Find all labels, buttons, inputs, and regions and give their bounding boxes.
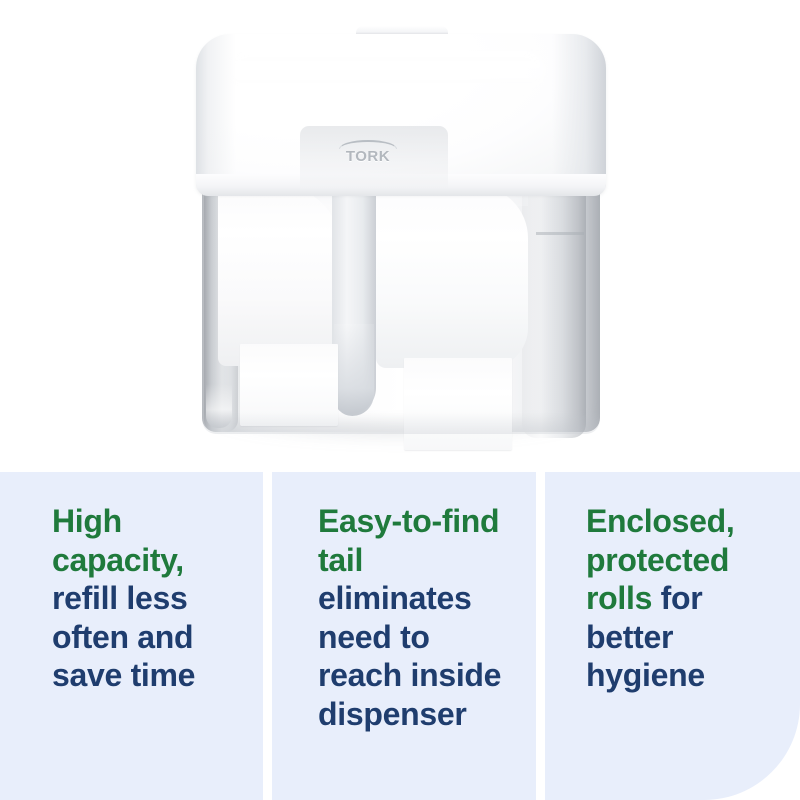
dispenser-illustration: TORK — [196, 26, 606, 438]
feature-panel-easy-to-find-tail: Easy-to-find tail eliminates need to rea… — [272, 472, 536, 800]
feature-panels: High capacity, refill less often and sav… — [0, 470, 800, 800]
feature-text-high-capacity: High capacity, refill less often and sav… — [0, 502, 263, 695]
tork-wordmark: TORK — [332, 149, 404, 165]
product-hero-image: TORK — [0, 0, 800, 470]
feature-panel-high-capacity: High capacity, refill less often and sav… — [0, 472, 263, 800]
dispenser-cover-right-shading — [552, 34, 606, 194]
page-root: TORK High capacity, refill less often an… — [0, 0, 800, 800]
feature-highlight-high-capacity: High capacity, — [52, 503, 184, 578]
paper-roll-left — [218, 186, 340, 366]
feature-body-high-capacity: refill less often and save time — [52, 580, 195, 693]
dispenser-cover-left-shading — [196, 34, 236, 194]
tork-logo: TORK — [332, 140, 404, 166]
dispenser-bottom-shading — [202, 412, 600, 434]
feature-panel-enclosed-protected-rolls: Enclosed, protected rolls for better hyg… — [545, 472, 800, 800]
paper-roll-right — [376, 186, 528, 368]
feature-text-easy-to-find-tail: Easy-to-find tail eliminates need to rea… — [272, 502, 536, 733]
paper-tail-right — [404, 358, 512, 450]
feature-body-easy-to-find-tail: eliminates need to reach inside dispense… — [318, 580, 501, 732]
feature-text-enclosed-protected-rolls: Enclosed, protected rolls for better hyg… — [545, 502, 800, 695]
feature-highlight-easy-to-find-tail: Easy-to-find tail — [318, 503, 499, 578]
dispenser-right-translucent-pane — [522, 166, 586, 438]
